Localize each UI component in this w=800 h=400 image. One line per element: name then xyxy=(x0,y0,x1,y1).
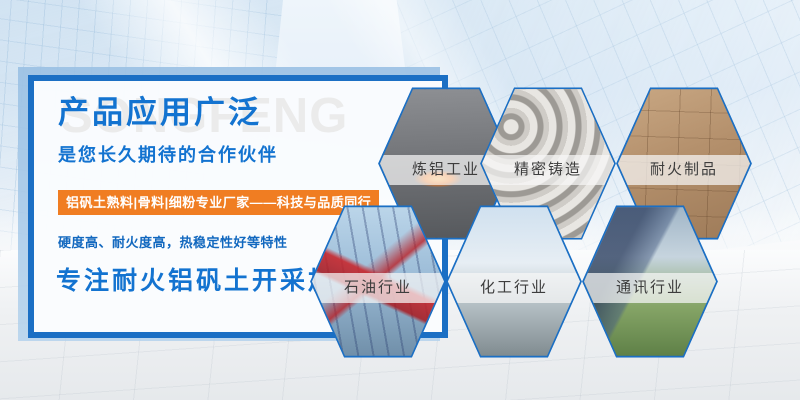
promotional-banner: SONGFENG 产品应用广泛 是您长久期待的合作伙伴 铝矾土熟料|骨料|细粉专… xyxy=(0,0,800,400)
highlight-bar: 铝矾土熟料|骨料|细粉专业厂家——科技与品质同行 xyxy=(58,190,379,215)
hex-label: 化工行业 xyxy=(448,273,580,303)
hex-label: 精密铸造 xyxy=(482,155,614,185)
hex-label: 石油行业 xyxy=(312,273,444,303)
hex-label: 通讯行业 xyxy=(584,273,716,303)
hex-label: 耐火制品 xyxy=(618,155,750,185)
subtitle: 是您长久期待的合作伙伴 xyxy=(58,141,388,167)
feature-text: 硬度高、耐火度高，热稳定性好等特性 xyxy=(58,232,288,251)
headline-block: SONGFENG 产品应用广泛 是您长久期待的合作伙伴 xyxy=(58,92,388,167)
page-title: 产品应用广泛 xyxy=(58,92,388,134)
